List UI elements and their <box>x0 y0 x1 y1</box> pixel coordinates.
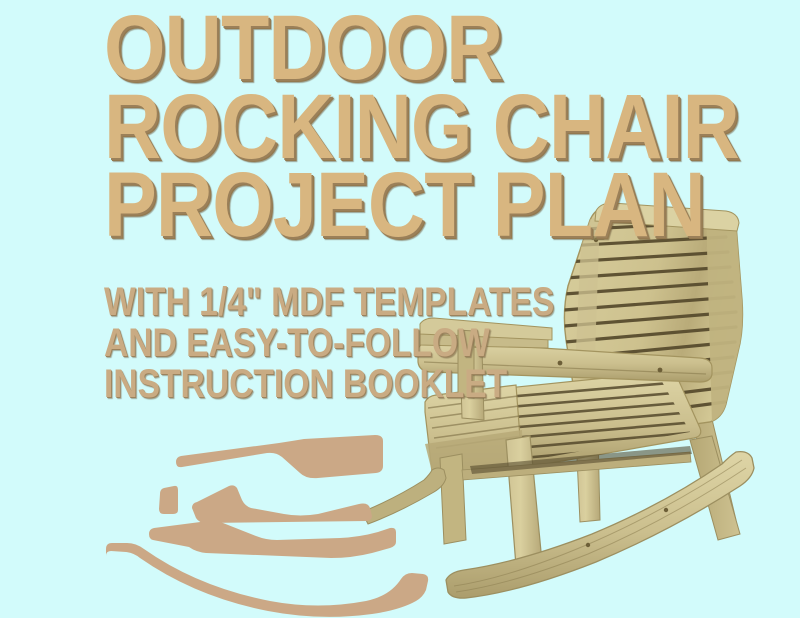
template-piece-5 <box>106 543 428 617</box>
headline-group: OUTDOOR ROCKING CHAIR PROJECT PLAN <box>104 6 664 248</box>
subheadline-line-2: AND EASY-TO-FOLLOW <box>104 323 499 364</box>
poster-canvas: OUTDOOR ROCKING CHAIR PROJECT PLAN WITH … <box>0 0 800 618</box>
chair-underseat-shadow <box>470 446 692 474</box>
template-piece-2 <box>159 486 178 514</box>
chair-rocker-runner-near <box>446 452 754 599</box>
chair-rear-frame <box>576 394 736 524</box>
headline-line-3: PROJECT PLAN <box>104 163 586 248</box>
subheadline-line-3: INSTRUCTION BOOKLET <box>104 364 499 405</box>
subheadline-group: WITH 1/4" MDF TEMPLATES AND EASY-TO-FOLL… <box>104 282 574 404</box>
chair-front-legs <box>440 436 542 566</box>
template-piece-3 <box>192 485 372 523</box>
template-piece-1 <box>176 435 383 478</box>
subheadline-line-1: WITH 1/4" MDF TEMPLATES <box>104 282 499 323</box>
chair-rear-legs-lower <box>690 436 740 540</box>
chair-rocker-runner-far <box>362 468 446 524</box>
template-piece-4 <box>149 521 396 558</box>
chair-stretcher <box>462 452 691 480</box>
